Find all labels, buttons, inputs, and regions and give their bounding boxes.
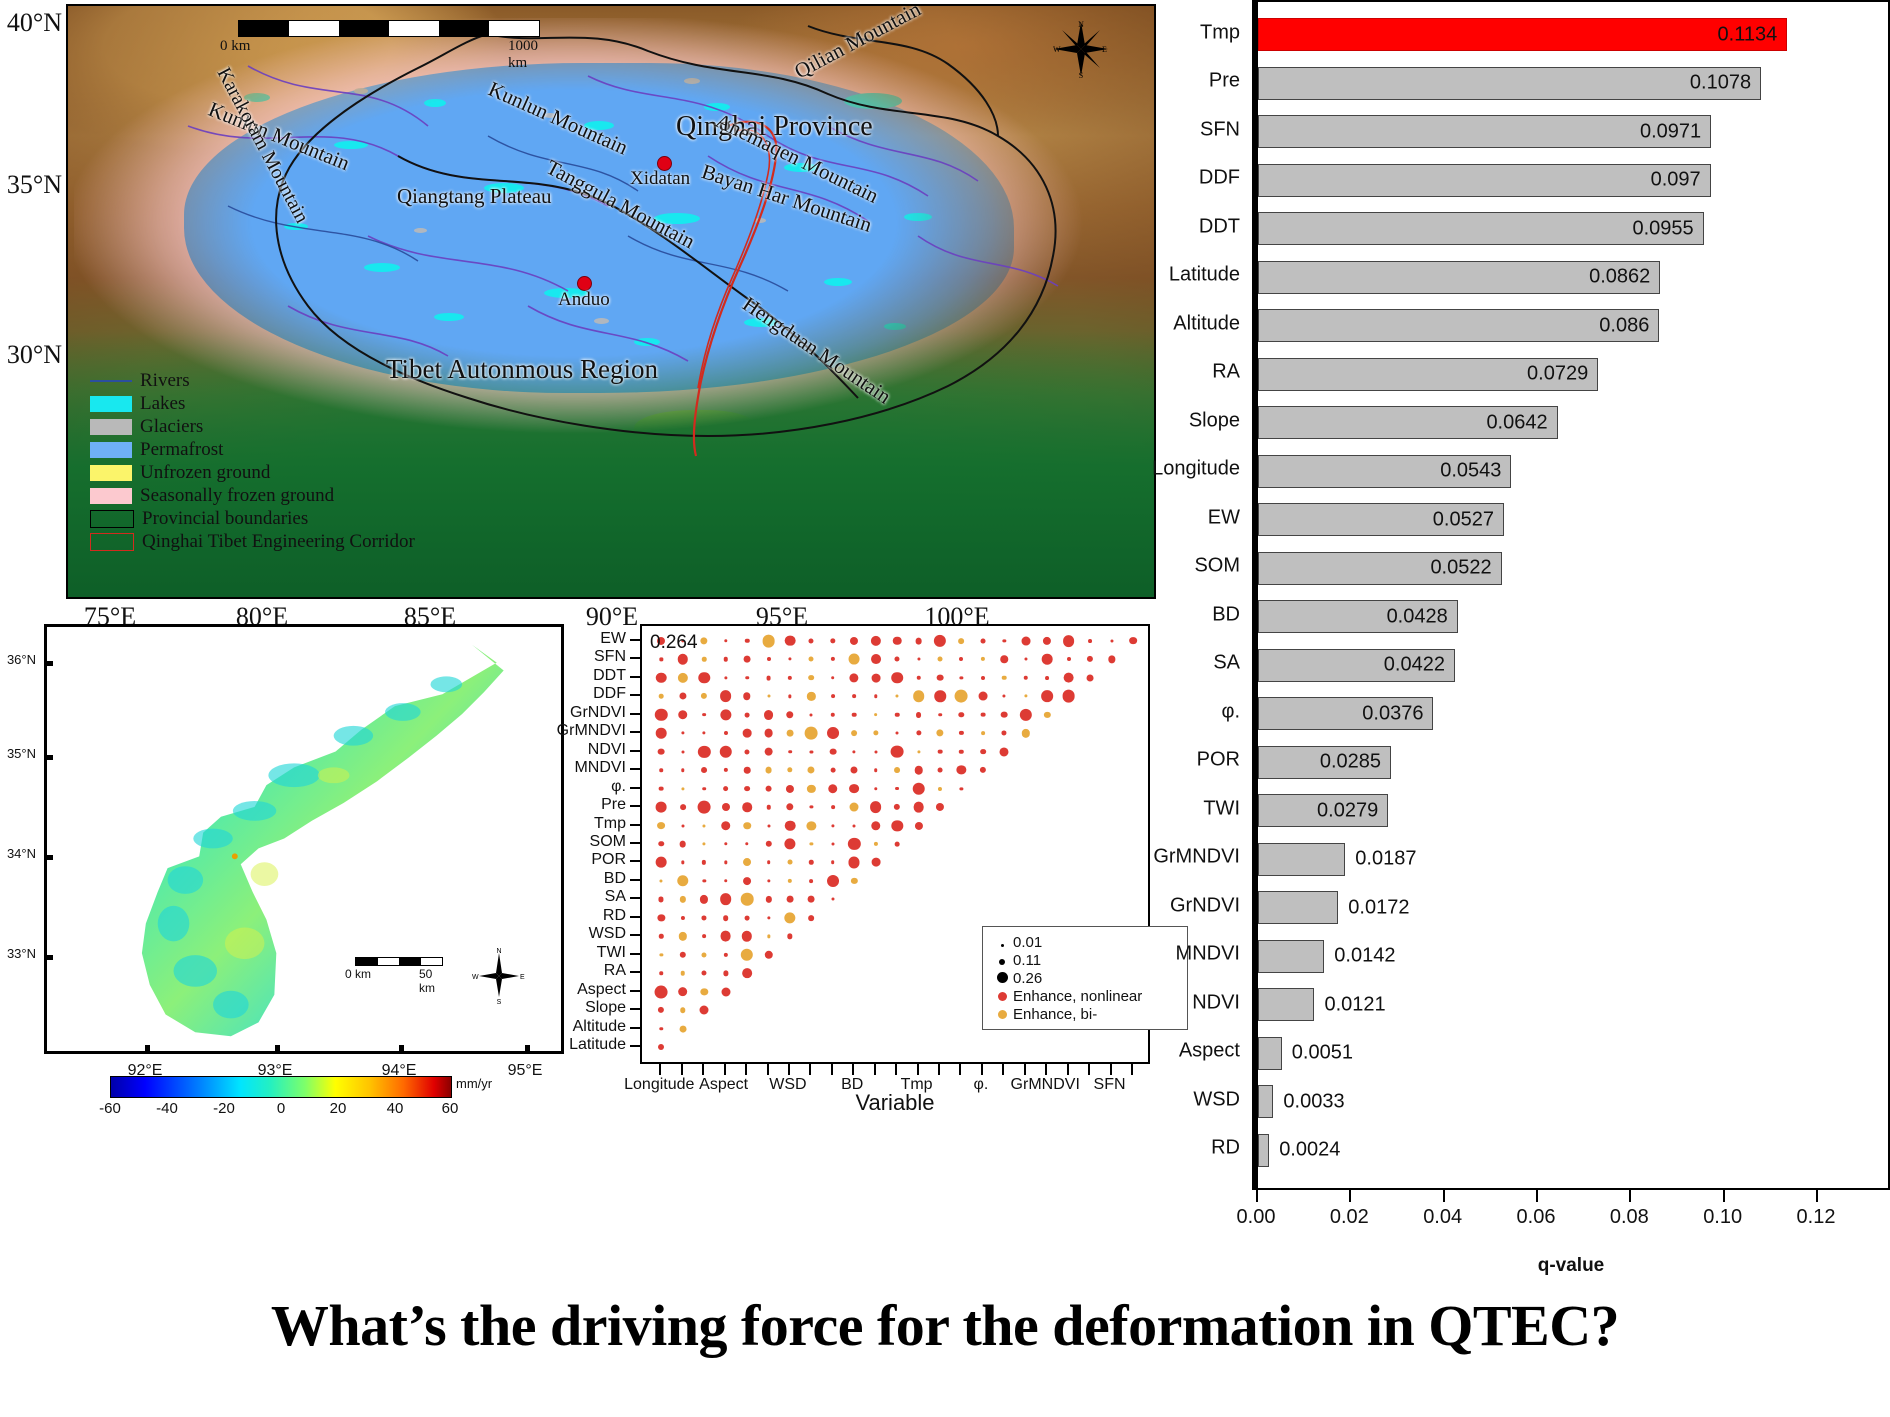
dot-matrix-point[interactable] bbox=[957, 765, 966, 774]
dot-matrix-point[interactable] bbox=[896, 732, 899, 735]
dot-matrix-point[interactable] bbox=[959, 712, 964, 717]
dot-matrix-point[interactable] bbox=[657, 822, 665, 830]
dot-matrix-point[interactable] bbox=[895, 787, 899, 791]
dot-matrix-point[interactable] bbox=[915, 821, 923, 829]
dot-matrix-point[interactable] bbox=[1110, 639, 1113, 642]
dot-matrix-point[interactable] bbox=[871, 636, 881, 646]
dot-matrix-point[interactable] bbox=[723, 768, 727, 772]
dot-matrix-point[interactable] bbox=[655, 985, 668, 998]
dot-matrix-point[interactable] bbox=[767, 879, 770, 882]
dot-matrix-point[interactable] bbox=[659, 694, 664, 699]
dot-matrix-point[interactable] bbox=[809, 638, 814, 643]
dot-matrix-point[interactable] bbox=[723, 915, 729, 921]
dot-matrix-point[interactable] bbox=[680, 1008, 685, 1013]
dot-matrix-point[interactable] bbox=[787, 730, 794, 737]
dot-matrix-point[interactable] bbox=[787, 896, 794, 903]
dot-matrix-point[interactable] bbox=[681, 824, 684, 827]
dot-matrix-point[interactable] bbox=[743, 729, 752, 738]
dot-matrix-point[interactable] bbox=[767, 861, 771, 865]
dot-matrix-point[interactable] bbox=[658, 1007, 664, 1013]
dot-matrix-point[interactable] bbox=[724, 879, 728, 883]
dot-matrix-point[interactable] bbox=[702, 934, 706, 938]
bar-row[interactable]: 0.0862 bbox=[1258, 261, 1818, 294]
bar-row[interactable]: 0.0527 bbox=[1258, 503, 1818, 536]
bar-row[interactable]: 0.0142 bbox=[1258, 940, 1818, 973]
dot-matrix-point[interactable] bbox=[978, 692, 987, 701]
dot-matrix-point[interactable] bbox=[981, 676, 985, 680]
dot-matrix-point[interactable] bbox=[934, 635, 946, 647]
dot-matrix-point[interactable] bbox=[1042, 654, 1053, 665]
dot-matrix-point[interactable] bbox=[742, 802, 752, 812]
dot-matrix-point[interactable] bbox=[698, 745, 710, 757]
dot-matrix-point[interactable] bbox=[702, 657, 706, 661]
dot-matrix-point[interactable] bbox=[831, 694, 835, 698]
dot-matrix-point[interactable] bbox=[680, 804, 686, 810]
dot-matrix-point[interactable] bbox=[1063, 672, 1074, 683]
dot-matrix-point[interactable] bbox=[678, 673, 688, 683]
dot-matrix-point[interactable] bbox=[745, 749, 750, 754]
dot-matrix-point[interactable] bbox=[660, 768, 664, 772]
dot-matrix-point[interactable] bbox=[891, 820, 902, 831]
dot-matrix-point[interactable] bbox=[1024, 658, 1027, 661]
bar-row[interactable]: 0.0642 bbox=[1258, 406, 1818, 439]
dot-matrix-point[interactable] bbox=[1041, 690, 1053, 702]
dot-matrix-point[interactable] bbox=[702, 915, 707, 920]
dot-matrix-point[interactable] bbox=[831, 824, 834, 827]
dot-matrix-point[interactable] bbox=[784, 912, 795, 923]
dot-matrix-point[interactable] bbox=[1045, 676, 1049, 680]
dot-matrix-point[interactable] bbox=[658, 1044, 664, 1050]
dot-matrix-point[interactable] bbox=[702, 787, 706, 791]
dot-matrix-point[interactable] bbox=[788, 879, 792, 883]
dot-matrix-point[interactable] bbox=[831, 657, 835, 661]
dot-matrix-point[interactable] bbox=[874, 694, 877, 697]
dot-matrix-point[interactable] bbox=[702, 860, 706, 864]
bar-rect[interactable] bbox=[1258, 1037, 1282, 1070]
dot-matrix-point[interactable] bbox=[1021, 636, 1030, 645]
dot-matrix-point[interactable] bbox=[720, 894, 732, 906]
dot-matrix-point[interactable] bbox=[745, 712, 750, 717]
dot-matrix-point[interactable] bbox=[660, 658, 663, 661]
dot-matrix-point[interactable] bbox=[917, 750, 920, 753]
dot-matrix-point[interactable] bbox=[743, 692, 750, 699]
dot-matrix-point[interactable] bbox=[809, 675, 815, 681]
dot-matrix-point[interactable] bbox=[765, 896, 771, 902]
dot-matrix-point[interactable] bbox=[827, 875, 839, 887]
dot-matrix-point[interactable] bbox=[981, 712, 986, 717]
dot-matrix-point[interactable] bbox=[934, 690, 946, 702]
dot-matrix-point[interactable] bbox=[831, 712, 835, 716]
dot-matrix-point[interactable] bbox=[743, 859, 751, 867]
dot-matrix-point[interactable] bbox=[831, 676, 835, 680]
dot-matrix-point[interactable] bbox=[955, 690, 968, 703]
bar-row[interactable]: 0.0428 bbox=[1258, 600, 1818, 633]
dot-matrix-point[interactable] bbox=[936, 730, 943, 737]
bar-rect[interactable] bbox=[1258, 891, 1338, 924]
dot-matrix-point[interactable] bbox=[850, 637, 858, 645]
dot-matrix-point[interactable] bbox=[702, 713, 706, 717]
dot-matrix-point[interactable] bbox=[720, 690, 732, 702]
dot-matrix-point[interactable] bbox=[960, 787, 963, 790]
dot-matrix-point[interactable] bbox=[787, 767, 792, 772]
dot-matrix-point[interactable] bbox=[680, 971, 685, 976]
dot-matrix-point[interactable] bbox=[894, 767, 900, 773]
dot-matrix-point[interactable] bbox=[851, 730, 857, 736]
bar-row[interactable]: 0.086 bbox=[1258, 309, 1818, 342]
dot-matrix-point[interactable] bbox=[913, 690, 925, 702]
dot-matrix-point[interactable] bbox=[698, 801, 711, 814]
dot-matrix-point[interactable] bbox=[851, 767, 858, 774]
dot-matrix-point[interactable] bbox=[1088, 639, 1092, 643]
dot-matrix-point[interactable] bbox=[849, 654, 860, 665]
dot-matrix-point[interactable] bbox=[915, 637, 922, 644]
dot-matrix-point[interactable] bbox=[1002, 731, 1007, 736]
bar-row[interactable]: 0.0422 bbox=[1258, 649, 1818, 682]
dot-matrix-point[interactable] bbox=[656, 728, 667, 739]
dot-matrix-point[interactable] bbox=[786, 711, 793, 718]
dot-matrix-point[interactable] bbox=[656, 672, 667, 683]
dot-matrix-point[interactable] bbox=[722, 803, 730, 811]
dot-matrix-point[interactable] bbox=[1087, 656, 1093, 662]
dot-matrix-point[interactable] bbox=[786, 803, 793, 810]
dot-matrix-point[interactable] bbox=[702, 952, 707, 957]
dot-matrix-point[interactable] bbox=[810, 750, 813, 753]
bar-rect[interactable] bbox=[1258, 164, 1711, 197]
dot-matrix-point[interactable] bbox=[852, 694, 856, 698]
dot-matrix-point[interactable] bbox=[787, 860, 792, 865]
dot-matrix-point[interactable] bbox=[809, 860, 813, 864]
dot-matrix-point[interactable] bbox=[656, 802, 667, 813]
dot-matrix-point[interactable] bbox=[742, 968, 752, 978]
dot-matrix-point[interactable] bbox=[678, 710, 688, 720]
dot-matrix-point[interactable] bbox=[831, 843, 834, 846]
dot-matrix-point[interactable] bbox=[741, 893, 754, 906]
dot-matrix-point[interactable] bbox=[743, 877, 751, 885]
dot-matrix-point[interactable] bbox=[681, 750, 684, 753]
dot-matrix-point[interactable] bbox=[788, 695, 791, 698]
dot-matrix-point[interactable] bbox=[785, 820, 796, 831]
dot-matrix-point[interactable] bbox=[744, 656, 751, 663]
dot-matrix-point[interactable] bbox=[767, 824, 770, 827]
bar-row[interactable]: 0.0024 bbox=[1258, 1134, 1818, 1167]
dot-matrix-point[interactable] bbox=[917, 658, 920, 661]
dot-matrix-point[interactable] bbox=[701, 767, 707, 773]
dot-matrix-point[interactable] bbox=[786, 785, 794, 793]
dot-matrix-point[interactable] bbox=[788, 658, 791, 661]
dot-matrix-point[interactable] bbox=[831, 898, 834, 901]
dot-matrix-point[interactable] bbox=[660, 879, 663, 882]
dot-matrix-point[interactable] bbox=[870, 801, 882, 813]
dot-matrix-point[interactable] bbox=[703, 824, 706, 827]
dot-matrix-point[interactable] bbox=[1062, 690, 1075, 703]
dot-matrix-point[interactable] bbox=[828, 784, 838, 794]
dot-matrix-point[interactable] bbox=[1020, 709, 1032, 721]
dot-matrix-point[interactable] bbox=[809, 915, 815, 921]
bar-row[interactable]: 0.0051 bbox=[1258, 1037, 1818, 1070]
dot-matrix-point[interactable] bbox=[720, 931, 731, 942]
dot-matrix-point[interactable] bbox=[871, 821, 880, 830]
bar-rect[interactable] bbox=[1258, 18, 1787, 51]
dot-matrix-point[interactable] bbox=[912, 782, 925, 795]
dot-matrix-point[interactable] bbox=[1024, 675, 1028, 679]
dot-matrix-point[interactable] bbox=[721, 987, 730, 996]
bar-row[interactable]: 0.0285 bbox=[1258, 746, 1818, 779]
dot-matrix-point[interactable] bbox=[916, 675, 920, 679]
dot-matrix-point[interactable] bbox=[893, 637, 902, 646]
dot-matrix-point[interactable] bbox=[852, 712, 857, 717]
dot-matrix-point[interactable] bbox=[764, 747, 773, 756]
dot-matrix-point[interactable] bbox=[767, 695, 770, 698]
dot-matrix-point[interactable] bbox=[742, 931, 752, 941]
dot-matrix-point[interactable] bbox=[830, 768, 835, 773]
bar-row[interactable]: 0.0279 bbox=[1258, 794, 1818, 827]
dot-matrix-point[interactable] bbox=[807, 784, 815, 792]
dot-matrix-point[interactable] bbox=[700, 895, 708, 903]
dot-matrix-point[interactable] bbox=[1001, 711, 1008, 718]
dot-matrix-point[interactable] bbox=[871, 654, 881, 664]
bar-row[interactable]: 0.0172 bbox=[1258, 891, 1818, 924]
dot-matrix-point[interactable] bbox=[703, 732, 706, 735]
bar-rect[interactable] bbox=[1258, 843, 1345, 876]
dot-matrix-point[interactable] bbox=[960, 676, 963, 679]
dot-matrix-point[interactable] bbox=[849, 784, 859, 794]
dot-matrix-point[interactable] bbox=[831, 861, 835, 865]
dot-matrix-point[interactable] bbox=[853, 824, 856, 827]
dot-matrix-point[interactable] bbox=[807, 821, 816, 830]
dot-matrix-point[interactable] bbox=[656, 857, 667, 868]
dot-matrix-point[interactable] bbox=[766, 675, 771, 680]
dot-matrix-point[interactable] bbox=[810, 713, 813, 716]
dot-matrix-point[interactable] bbox=[658, 914, 665, 921]
dot-matrix-point[interactable] bbox=[810, 805, 813, 808]
dot-matrix-point[interactable] bbox=[724, 731, 728, 735]
dot-matrix-point[interactable] bbox=[1003, 695, 1006, 698]
dot-matrix-point[interactable] bbox=[1000, 747, 1009, 756]
dot-matrix-point[interactable] bbox=[659, 934, 663, 938]
dot-matrix-point[interactable] bbox=[981, 731, 985, 735]
dot-matrix-point[interactable] bbox=[655, 708, 667, 720]
dot-matrix-point[interactable] bbox=[874, 750, 877, 753]
dot-matrix-point[interactable] bbox=[807, 692, 815, 700]
bar-row[interactable]: 0.1134 bbox=[1258, 18, 1818, 51]
dot-matrix-point[interactable] bbox=[959, 731, 963, 735]
dot-matrix-point[interactable] bbox=[677, 654, 687, 664]
dot-matrix-point[interactable] bbox=[680, 896, 686, 902]
dot-matrix-point[interactable] bbox=[766, 805, 770, 809]
dot-matrix-point[interactable] bbox=[938, 657, 943, 662]
dot-matrix-point[interactable] bbox=[764, 951, 772, 959]
dot-matrix-point[interactable] bbox=[938, 768, 943, 773]
dot-matrix-point[interactable] bbox=[679, 693, 686, 700]
dot-matrix-point[interactable] bbox=[681, 768, 684, 771]
dot-matrix-point[interactable] bbox=[871, 673, 880, 682]
dot-matrix-point[interactable] bbox=[848, 838, 860, 850]
dot-matrix-point[interactable] bbox=[767, 935, 770, 938]
dot-matrix-point[interactable] bbox=[724, 861, 727, 864]
dot-matrix-point[interactable] bbox=[1022, 729, 1030, 737]
dot-matrix-point[interactable] bbox=[896, 695, 899, 698]
dot-matrix-point[interactable] bbox=[765, 841, 771, 847]
dot-matrix-point[interactable] bbox=[680, 952, 686, 958]
dot-matrix-point[interactable] bbox=[938, 713, 942, 717]
dot-matrix-point[interactable] bbox=[871, 858, 880, 867]
dot-matrix-point[interactable] bbox=[1063, 635, 1075, 647]
bar-row[interactable]: 0.0121 bbox=[1258, 988, 1818, 1021]
dot-matrix-point[interactable] bbox=[764, 710, 774, 720]
bar-rect[interactable] bbox=[1258, 988, 1314, 1021]
dot-matrix-point[interactable] bbox=[830, 638, 835, 643]
dot-matrix-point[interactable] bbox=[936, 803, 944, 811]
dot-matrix-point[interactable] bbox=[698, 672, 709, 683]
dot-matrix-point[interactable] bbox=[764, 729, 773, 738]
dot-matrix-point[interactable] bbox=[1003, 639, 1006, 642]
dot-matrix-point[interactable] bbox=[784, 838, 795, 849]
dot-matrix-point[interactable] bbox=[660, 953, 663, 956]
dot-matrix-point[interactable] bbox=[913, 802, 924, 813]
dot-matrix-point[interactable] bbox=[1087, 674, 1094, 681]
dot-matrix-point[interactable] bbox=[980, 767, 986, 773]
dot-matrix-point[interactable] bbox=[724, 676, 727, 679]
dot-matrix-point[interactable] bbox=[681, 732, 684, 735]
dot-matrix-point[interactable] bbox=[745, 915, 750, 920]
dot-matrix-point[interactable] bbox=[720, 709, 731, 720]
dot-matrix-point[interactable] bbox=[938, 787, 942, 791]
dot-matrix-point[interactable] bbox=[827, 727, 839, 739]
dot-matrix-point[interactable] bbox=[659, 786, 664, 791]
dot-matrix-point[interactable] bbox=[681, 916, 685, 920]
dot-matrix-point[interactable] bbox=[916, 712, 922, 718]
bar-rect[interactable] bbox=[1258, 1134, 1269, 1167]
dot-matrix-point[interactable] bbox=[659, 841, 664, 846]
bar-row[interactable]: 0.097 bbox=[1258, 164, 1818, 197]
dot-matrix-point[interactable] bbox=[1024, 695, 1027, 698]
dot-matrix-point[interactable] bbox=[700, 1006, 709, 1015]
dot-matrix-point[interactable] bbox=[894, 804, 900, 810]
dot-matrix-point[interactable] bbox=[959, 657, 963, 661]
dot-matrix-point[interactable] bbox=[850, 673, 859, 682]
dot-matrix-point[interactable] bbox=[805, 727, 818, 740]
dot-matrix-point[interactable] bbox=[767, 916, 770, 919]
dot-matrix-point[interactable] bbox=[658, 748, 665, 755]
bar-row[interactable]: 0.0729 bbox=[1258, 358, 1818, 391]
dot-matrix-point[interactable] bbox=[744, 767, 751, 774]
dot-matrix-point[interactable] bbox=[745, 676, 749, 680]
dot-matrix-point[interactable] bbox=[762, 634, 775, 647]
dot-matrix-point[interactable] bbox=[723, 971, 728, 976]
dot-matrix-point[interactable] bbox=[765, 767, 772, 774]
dot-matrix-point[interactable] bbox=[895, 842, 900, 847]
dot-matrix-point[interactable] bbox=[660, 1027, 663, 1030]
dot-matrix-point[interactable] bbox=[1067, 657, 1071, 661]
dot-matrix-point[interactable] bbox=[679, 841, 686, 848]
bar-rect[interactable] bbox=[1258, 67, 1761, 100]
dot-matrix-point[interactable] bbox=[916, 731, 921, 736]
bar-row[interactable]: 0.0955 bbox=[1258, 212, 1818, 245]
dot-matrix-point[interactable] bbox=[895, 657, 900, 662]
bar-rect[interactable] bbox=[1258, 1085, 1273, 1118]
dot-matrix-point[interactable] bbox=[785, 635, 796, 646]
dot-matrix-point[interactable] bbox=[719, 745, 731, 757]
dot-matrix-point[interactable] bbox=[741, 949, 753, 961]
dot-matrix-point[interactable] bbox=[1044, 712, 1050, 718]
dot-matrix-point[interactable] bbox=[874, 713, 878, 717]
dot-matrix-point[interactable] bbox=[703, 842, 706, 845]
bar-row[interactable]: 0.0971 bbox=[1258, 115, 1818, 148]
dot-matrix-point[interactable] bbox=[849, 857, 860, 868]
dot-matrix-point[interactable] bbox=[891, 745, 904, 758]
dot-matrix-point[interactable] bbox=[914, 766, 923, 775]
dot-matrix-point[interactable] bbox=[659, 897, 664, 902]
bar-rect[interactable] bbox=[1258, 940, 1324, 973]
dot-matrix-point[interactable] bbox=[681, 861, 684, 864]
dot-matrix-point[interactable] bbox=[874, 768, 878, 772]
dot-matrix-point[interactable] bbox=[850, 803, 859, 812]
dot-matrix-point[interactable] bbox=[829, 748, 836, 755]
dot-matrix-point[interactable] bbox=[1129, 637, 1137, 645]
dot-matrix-point[interactable] bbox=[723, 953, 727, 957]
bar-row[interactable]: 0.1078 bbox=[1258, 67, 1818, 100]
dot-matrix-point[interactable] bbox=[959, 749, 963, 753]
dot-matrix-point[interactable] bbox=[723, 657, 727, 661]
dot-matrix-point[interactable] bbox=[721, 821, 731, 831]
dot-matrix-point[interactable] bbox=[1002, 675, 1007, 680]
dot-matrix-point[interactable] bbox=[810, 842, 813, 845]
dot-matrix-point[interactable] bbox=[980, 749, 986, 755]
dot-matrix-point[interactable] bbox=[765, 785, 772, 792]
dot-matrix-point[interactable] bbox=[677, 875, 688, 886]
dot-matrix-point[interactable] bbox=[744, 786, 750, 792]
dot-matrix-point[interactable] bbox=[981, 657, 985, 661]
dot-matrix-point[interactable] bbox=[724, 639, 727, 642]
dot-matrix-point[interactable] bbox=[891, 672, 903, 684]
dot-matrix-point[interactable] bbox=[743, 822, 751, 830]
dot-matrix-point[interactable] bbox=[678, 987, 688, 997]
dot-matrix-point[interactable] bbox=[788, 676, 792, 680]
dot-matrix-point[interactable] bbox=[724, 842, 727, 845]
dot-matrix-point[interactable] bbox=[703, 879, 706, 882]
dot-matrix-point[interactable] bbox=[1108, 656, 1115, 663]
dot-matrix-point[interactable] bbox=[959, 638, 965, 644]
dot-matrix-point[interactable] bbox=[767, 657, 771, 661]
dot-matrix-point[interactable] bbox=[808, 767, 815, 774]
dot-matrix-point[interactable] bbox=[701, 637, 708, 644]
dot-matrix-point[interactable] bbox=[937, 674, 944, 681]
dot-matrix-point[interactable] bbox=[723, 786, 729, 792]
dot-matrix-point[interactable] bbox=[679, 932, 687, 940]
dot-matrix-point[interactable] bbox=[660, 972, 664, 976]
dot-matrix-point[interactable] bbox=[1043, 637, 1051, 645]
dot-matrix-point[interactable] bbox=[679, 1025, 686, 1032]
dot-matrix-point[interactable] bbox=[808, 896, 815, 903]
bar-row[interactable]: 0.0187 bbox=[1258, 843, 1818, 876]
dot-matrix-point[interactable] bbox=[938, 749, 943, 754]
dot-matrix-point[interactable] bbox=[873, 731, 878, 736]
bar-row[interactable]: 0.0522 bbox=[1258, 552, 1818, 585]
dot-matrix-point[interactable] bbox=[853, 750, 856, 753]
bar-row[interactable]: 0.0543 bbox=[1258, 455, 1818, 488]
dot-matrix-point[interactable] bbox=[851, 878, 857, 884]
dot-matrix-point[interactable] bbox=[980, 638, 985, 643]
dot-matrix-point[interactable] bbox=[809, 657, 814, 662]
dot-matrix-point[interactable] bbox=[745, 639, 749, 643]
dot-matrix-point[interactable] bbox=[702, 971, 707, 976]
bar-row[interactable]: 0.0376 bbox=[1258, 697, 1818, 730]
dot-matrix-point[interactable] bbox=[701, 693, 707, 699]
dot-matrix-point[interactable] bbox=[874, 842, 878, 846]
dot-matrix-point[interactable] bbox=[874, 787, 877, 790]
dot-matrix-point[interactable] bbox=[895, 712, 899, 716]
bar-row[interactable]: 0.0033 bbox=[1258, 1085, 1818, 1118]
